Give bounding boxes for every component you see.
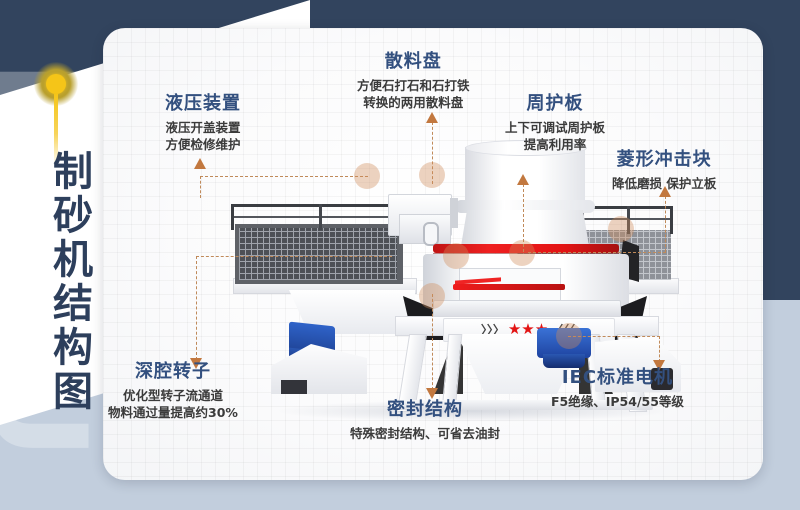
hydraulic-device-tabs xyxy=(450,198,458,228)
leader-line-rotor-vert xyxy=(196,256,197,360)
hotspot-guard xyxy=(608,216,634,242)
poster-canvas: RODU 制砂机结构图 xyxy=(0,0,800,510)
leader-line-rotor-horiz xyxy=(196,256,392,257)
label-title: 深腔转子 xyxy=(108,360,238,384)
label-distributor-plate[interactable]: 散料盘 方便石打石和石打铁 转换的两用散料盘 xyxy=(357,50,470,111)
label-line-1: 降低磨损 保护立板 xyxy=(612,175,716,192)
label-title: 周护板 xyxy=(505,92,605,116)
label-title: 散料盘 xyxy=(357,50,470,74)
leader-line-diamond-horiz xyxy=(528,252,666,253)
label-line-2: 转换的两用散料盘 xyxy=(357,94,470,111)
label-title: IEC标准电机 xyxy=(551,366,684,390)
label-hydraulic-device[interactable]: 液压装置 液压开盖装置 方便检修维护 xyxy=(165,92,241,153)
leader-line-motor-vert xyxy=(659,336,660,362)
label-iec-standard-motor[interactable]: IEC标准电机 F5绝缘、IP54/55等级 xyxy=(551,366,684,410)
drum-red-accent xyxy=(453,284,565,290)
label-line-2: 方便检修维护 xyxy=(165,136,241,153)
hotspot-diamond xyxy=(509,240,535,266)
label-line-1: 液压开盖装置 xyxy=(165,119,241,136)
label-line-1: 上下可调试周护板 xyxy=(505,119,605,136)
pin-dot-icon xyxy=(46,74,66,94)
hotspot-seal xyxy=(419,283,445,309)
label-line-1: 优化型转子流通道 xyxy=(108,387,238,404)
hydraulic-port-icon xyxy=(423,222,439,246)
label-title: 菱形冲击块 xyxy=(612,148,716,172)
left-lower-assembly-detail xyxy=(281,380,307,394)
label-line-1: F5绝缘、IP54/55等级 xyxy=(551,393,684,410)
label-line-1: 特殊密封结构、可省去油封 xyxy=(350,425,500,442)
label-diamond-impact-block[interactable]: 菱形冲击块 降低磨损 保护立板 xyxy=(612,148,716,192)
label-peripheral-guard-plate[interactable]: 周护板 上下可调试周护板 提高利用率 xyxy=(505,92,605,153)
label-line-1: 方便石打石和石打铁 xyxy=(357,77,470,94)
label-deep-cavity-rotor[interactable]: 深腔转子 优化型转子流通道 物料通过量提高约30% xyxy=(108,360,238,421)
hotspot-motor xyxy=(556,323,582,349)
leader-line-hydraulic-vert xyxy=(200,176,201,198)
left-platform-railing xyxy=(231,204,407,230)
label-line-2: 物料通过量提高约30% xyxy=(108,404,238,421)
label-sealing-structure[interactable]: 密封结构 特殊密封结构、可省去油封 xyxy=(350,398,500,442)
left-platform-mesh-icon xyxy=(239,228,397,280)
arrow-distributor xyxy=(426,112,438,123)
hotspot-rotor xyxy=(443,243,469,269)
label-line-2: 提高利用率 xyxy=(505,136,605,153)
leader-line-hydraulic xyxy=(200,176,368,177)
page-title: 制砂机结构图 xyxy=(36,150,92,414)
label-title: 密封结构 xyxy=(350,398,500,422)
hotspot-distributor xyxy=(419,162,445,188)
leader-line-diamond-vert xyxy=(665,196,666,252)
hotspot-hydraulic xyxy=(354,163,380,189)
label-title: 液压装置 xyxy=(165,92,241,116)
arrow-guard xyxy=(517,174,529,185)
arrow-hydraulic xyxy=(194,158,206,169)
